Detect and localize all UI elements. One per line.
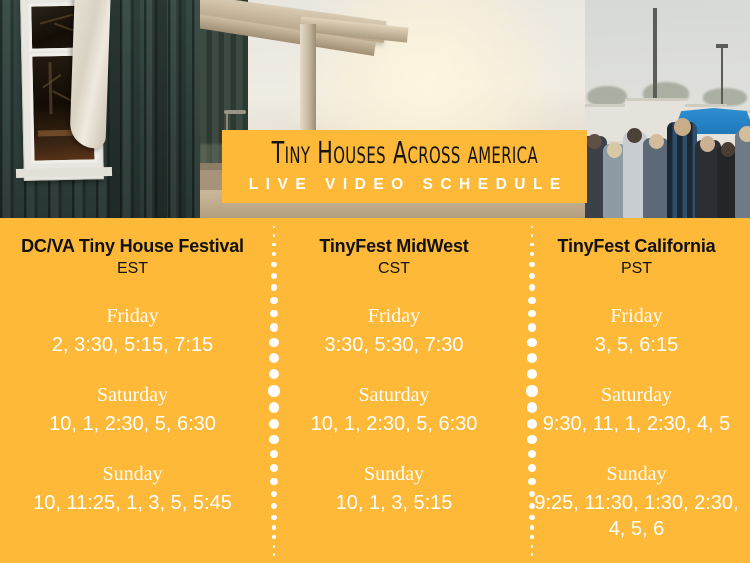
divider-dot <box>270 450 279 459</box>
schedule-column-california: TinyFest California PST Friday 3, 5, 6:1… <box>523 218 750 563</box>
divider-dot <box>528 297 535 304</box>
divider-dot <box>528 310 536 318</box>
light-head <box>716 44 728 48</box>
day-label: Sunday <box>265 462 523 487</box>
divider-dot <box>270 297 277 304</box>
day-label: Saturday <box>265 383 523 408</box>
divider-dot <box>529 515 534 520</box>
divider-dot <box>271 273 277 279</box>
divider-dot <box>273 234 276 237</box>
divider-dot <box>528 450 537 459</box>
divider-dot <box>269 369 280 380</box>
photo-right-crowd <box>585 0 750 218</box>
day-times: 3, 5, 6:15 <box>523 332 750 358</box>
day-block: Friday 2, 3:30, 5:15, 7:15 <box>0 304 265 358</box>
divider-dot <box>272 252 276 256</box>
column-timezone: PST <box>523 258 750 280</box>
divider-dot <box>526 385 538 397</box>
day-block: Friday 3, 5, 6:15 <box>523 304 750 358</box>
day-times: 9:25, 11:30, 1:30, 2:30, 4, 5, 6 <box>523 490 750 542</box>
divider-dot <box>530 243 534 247</box>
divider-dot <box>271 503 277 509</box>
header-photo-band: Tiny Houses Across america LIVE VIDEO SC… <box>0 0 750 218</box>
divider-dot <box>531 226 533 228</box>
divider-dot <box>271 515 276 520</box>
day-block: Sunday 10, 1, 3, 5:15 <box>265 462 523 516</box>
day-block: Sunday 9:25, 11:30, 1:30, 2:30, 4, 5, 6 <box>523 462 750 542</box>
day-label: Friday <box>0 304 265 329</box>
column-divider-2 <box>523 226 541 556</box>
column-title: DC/VA Tiny House Festival <box>0 236 265 256</box>
divider-dot <box>527 369 538 380</box>
day-times: 10, 1, 3, 5:15 <box>265 490 523 516</box>
divider-dot <box>530 525 534 529</box>
day-label: Friday <box>265 304 523 329</box>
column-divider-1 <box>265 226 283 556</box>
divider-dot <box>528 478 535 485</box>
schedule-column-dcva: DC/VA Tiny House Festival EST Friday 2, … <box>0 218 265 563</box>
divider-dot <box>268 385 280 397</box>
day-times: 10, 11:25, 1, 3, 5, 5:45 <box>0 490 265 516</box>
divider-dot <box>269 419 279 429</box>
day-block: Friday 3:30, 5:30, 7:30 <box>265 304 523 358</box>
schedule-panel: DC/VA Tiny House Festival EST Friday 2, … <box>0 218 750 563</box>
divider-dot <box>529 491 536 498</box>
divider-dot <box>273 545 276 548</box>
day-times: 9:30, 11, 1, 2:30, 4, 5 <box>523 411 750 437</box>
divider-dot <box>271 284 278 291</box>
divider-dot <box>269 353 279 363</box>
day-label: Friday <box>523 304 750 329</box>
column-title: TinyFest MidWest <box>265 236 523 256</box>
crowd-person <box>735 130 750 218</box>
divider-dot <box>527 353 537 363</box>
divider-dot <box>273 553 275 555</box>
day-label: Saturday <box>0 383 265 408</box>
day-block: Saturday 10, 1, 2:30, 5, 6:30 <box>0 383 265 437</box>
day-times: 10, 1, 2:30, 5, 6:30 <box>0 411 265 437</box>
divider-dot <box>527 338 536 347</box>
day-label: Sunday <box>523 462 750 487</box>
divider-dot <box>530 252 534 256</box>
divider-dot <box>271 262 276 267</box>
divider-dot <box>269 402 280 413</box>
divider-dot <box>272 535 276 539</box>
divider-dot <box>529 273 535 279</box>
day-times: 10, 1, 2:30, 5, 6:30 <box>265 411 523 437</box>
divider-dot <box>531 553 533 555</box>
divider-dot <box>272 243 276 247</box>
crowd-person <box>643 138 669 218</box>
divider-dot <box>529 503 535 509</box>
divider-dot <box>528 464 536 472</box>
divider-dot <box>529 284 536 291</box>
divider-dot <box>273 226 275 228</box>
divider-dot <box>531 545 534 548</box>
divider-dot <box>272 525 276 529</box>
divider-dot <box>270 464 278 472</box>
day-block: Sunday 10, 11:25, 1, 3, 5, 5:45 <box>0 462 265 516</box>
divider-dot <box>269 338 278 347</box>
poster-title: Tiny Houses Across america <box>271 138 537 169</box>
day-block: Saturday 10, 1, 2:30, 5, 6:30 <box>265 383 523 437</box>
divider-dot <box>270 310 278 318</box>
photo-left-cabin-wall <box>0 0 200 218</box>
divider-dot <box>271 491 278 498</box>
divider-dot <box>527 419 537 429</box>
day-block: Saturday 9:30, 11, 1, 2:30, 4, 5 <box>523 383 750 437</box>
divider-dot <box>270 478 277 485</box>
day-times: 2, 3:30, 5:15, 7:15 <box>0 332 265 358</box>
divider-dot <box>528 323 537 332</box>
divider-dot <box>527 402 538 413</box>
divider-dot <box>530 535 534 539</box>
poster-subtitle: LIVE VIDEO SCHEDULE <box>241 177 568 193</box>
window-curtain <box>69 0 110 149</box>
schedule-column-midwest: TinyFest MidWest CST Friday 3:30, 5:30, … <box>265 218 523 563</box>
day-label: Saturday <box>523 383 750 408</box>
divider-dot <box>270 323 279 332</box>
title-banner: Tiny Houses Across america LIVE VIDEO SC… <box>222 130 587 203</box>
divider-dot <box>269 435 278 444</box>
column-timezone: EST <box>0 258 265 280</box>
divider-dot <box>529 262 534 267</box>
column-title: TinyFest California <box>523 236 750 256</box>
column-timezone: CST <box>265 258 523 280</box>
schedule-poster: Tiny Houses Across america LIVE VIDEO SC… <box>0 0 750 563</box>
day-label: Sunday <box>0 462 265 487</box>
day-times: 3:30, 5:30, 7:30 <box>265 332 523 358</box>
lamp-head <box>224 110 246 114</box>
divider-dot <box>527 435 536 444</box>
crowd-person-plaid <box>667 122 697 218</box>
divider-dot <box>531 234 534 237</box>
